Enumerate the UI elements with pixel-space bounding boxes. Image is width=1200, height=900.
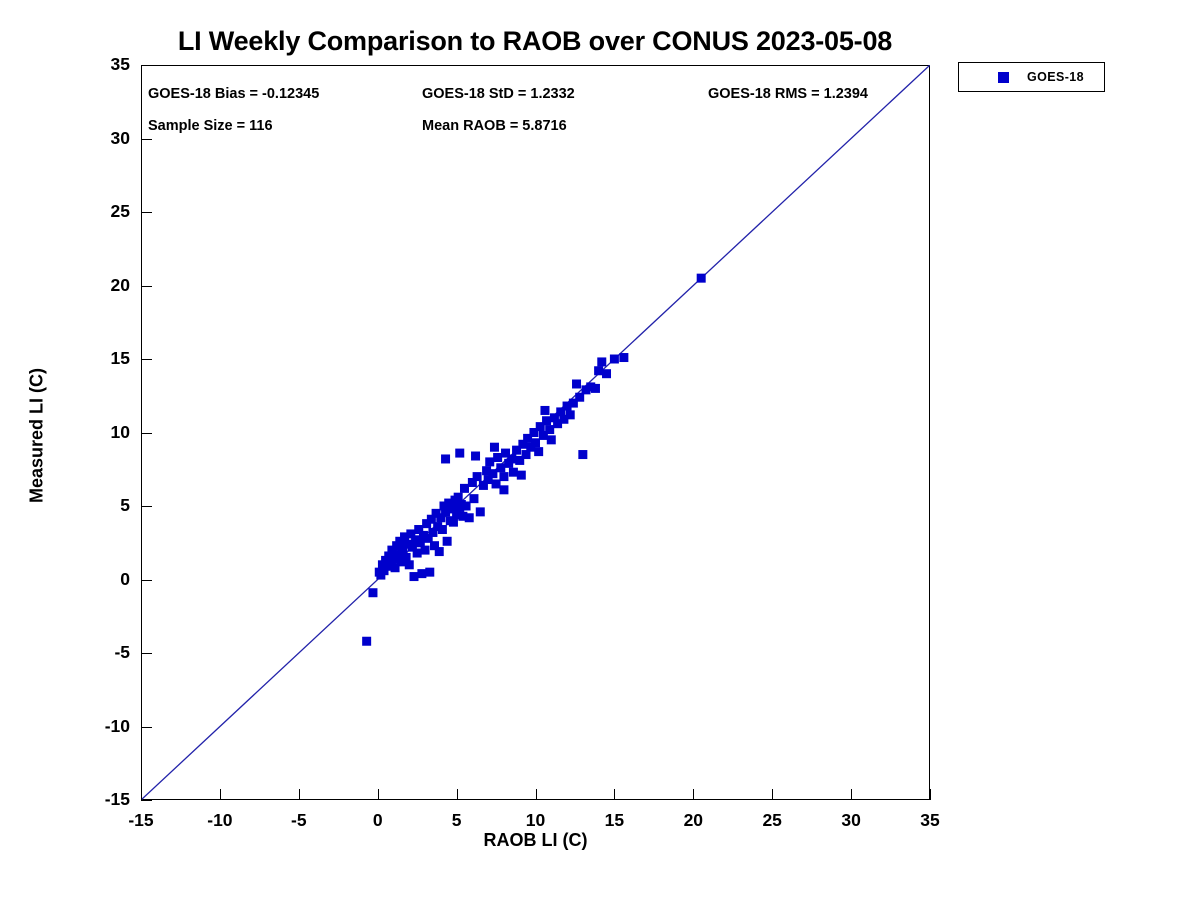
- data-point: [460, 484, 469, 493]
- legend-label-goes-18: GOES-18: [1027, 70, 1084, 84]
- legend-swatch-goes-18: [998, 72, 1009, 83]
- data-point: [540, 406, 549, 415]
- data-point: [697, 274, 706, 283]
- data-point: [493, 453, 502, 462]
- y-tick-label: 35: [111, 54, 130, 75]
- y-tick-label: 25: [111, 201, 130, 222]
- data-point: [509, 468, 518, 477]
- data-point: [610, 355, 619, 364]
- data-point: [566, 410, 575, 419]
- data-point: [425, 568, 434, 577]
- data-point: [531, 438, 540, 447]
- data-point: [421, 546, 430, 555]
- data-point: [547, 435, 556, 444]
- data-point: [496, 463, 505, 472]
- data-point: [438, 525, 447, 534]
- data-point: [499, 485, 508, 494]
- data-point: [499, 472, 508, 481]
- data-point: [443, 537, 452, 546]
- x-tick-label: 10: [526, 810, 545, 831]
- scatter-chart: LI Weekly Comparison to RAOB over CONUS …: [0, 0, 1200, 900]
- x-tickmark: [457, 789, 458, 800]
- data-point: [405, 560, 414, 569]
- x-tickmark: [141, 789, 142, 800]
- data-point: [455, 449, 464, 458]
- y-tickmark: [141, 580, 152, 581]
- x-tickmark: [693, 789, 694, 800]
- data-point: [591, 384, 600, 393]
- x-tick-label: -5: [291, 810, 307, 831]
- data-point: [476, 507, 485, 516]
- data-point: [368, 588, 377, 597]
- data-point: [597, 357, 606, 366]
- y-tick-label: -5: [114, 642, 130, 663]
- data-point: [545, 425, 554, 434]
- x-tick-label: 30: [841, 810, 860, 831]
- data-point: [413, 549, 422, 558]
- y-tickmark: [141, 359, 152, 360]
- legend[interactable]: GOES-18: [958, 62, 1105, 92]
- y-tick-label: 10: [111, 422, 130, 443]
- y-tickmark: [141, 286, 152, 287]
- data-point: [465, 513, 474, 522]
- data-point: [473, 472, 482, 481]
- data-point: [492, 479, 501, 488]
- data-point: [469, 494, 478, 503]
- x-tick-label: 5: [452, 810, 462, 831]
- y-tick-label: -10: [105, 716, 130, 737]
- y-tick-label: 30: [111, 128, 130, 149]
- x-tick-label: 25: [762, 810, 781, 831]
- data-point: [435, 547, 444, 556]
- x-tickmark: [930, 789, 931, 800]
- data-point: [507, 454, 516, 463]
- data-point: [362, 637, 371, 646]
- data-point: [441, 454, 450, 463]
- data-point: [490, 443, 499, 452]
- y-tick-label: 5: [120, 495, 130, 516]
- data-point: [534, 447, 543, 456]
- y-tick-label: 0: [120, 569, 130, 590]
- y-tickmark: [141, 65, 152, 66]
- data-point: [542, 416, 551, 425]
- x-tick-label: 15: [605, 810, 624, 831]
- data-point: [517, 471, 526, 480]
- y-tick-label: 20: [111, 275, 130, 296]
- data-point: [619, 353, 628, 362]
- x-tick-label: -10: [207, 810, 232, 831]
- x-axis-title: RAOB LI (C): [141, 830, 930, 851]
- y-tick-label: -15: [105, 789, 130, 810]
- x-tickmark: [851, 789, 852, 800]
- data-point: [462, 502, 471, 511]
- x-tickmark: [536, 789, 537, 800]
- data-point: [572, 379, 581, 388]
- data-point: [488, 469, 497, 478]
- data-point: [594, 366, 603, 375]
- data-point: [471, 452, 480, 461]
- chart-title: LI Weekly Comparison to RAOB over CONUS …: [0, 26, 1070, 57]
- y-axis-title: Measured LI (C): [27, 306, 48, 566]
- y-tickmark: [141, 506, 152, 507]
- x-tick-label: 0: [373, 810, 383, 831]
- y-tickmark: [141, 800, 152, 801]
- y-tickmark: [141, 653, 152, 654]
- x-tick-label: -15: [128, 810, 153, 831]
- y-tickmark: [141, 727, 152, 728]
- x-tick-label: 20: [684, 810, 703, 831]
- x-tick-label: 35: [920, 810, 939, 831]
- y-tickmark: [141, 212, 152, 213]
- x-tickmark: [299, 789, 300, 800]
- y-tickmark: [141, 433, 152, 434]
- data-point: [485, 457, 494, 466]
- data-points-group: [362, 274, 706, 646]
- data-point: [417, 569, 426, 578]
- x-tickmark: [614, 789, 615, 800]
- y-tick-label: 15: [111, 348, 130, 369]
- data-point: [602, 369, 611, 378]
- data-point: [409, 572, 418, 581]
- x-tickmark: [378, 789, 379, 800]
- x-tickmark: [220, 789, 221, 800]
- x-tickmark: [772, 789, 773, 800]
- plot-canvas: [141, 65, 930, 800]
- y-tickmark: [141, 139, 152, 140]
- data-point: [578, 450, 587, 459]
